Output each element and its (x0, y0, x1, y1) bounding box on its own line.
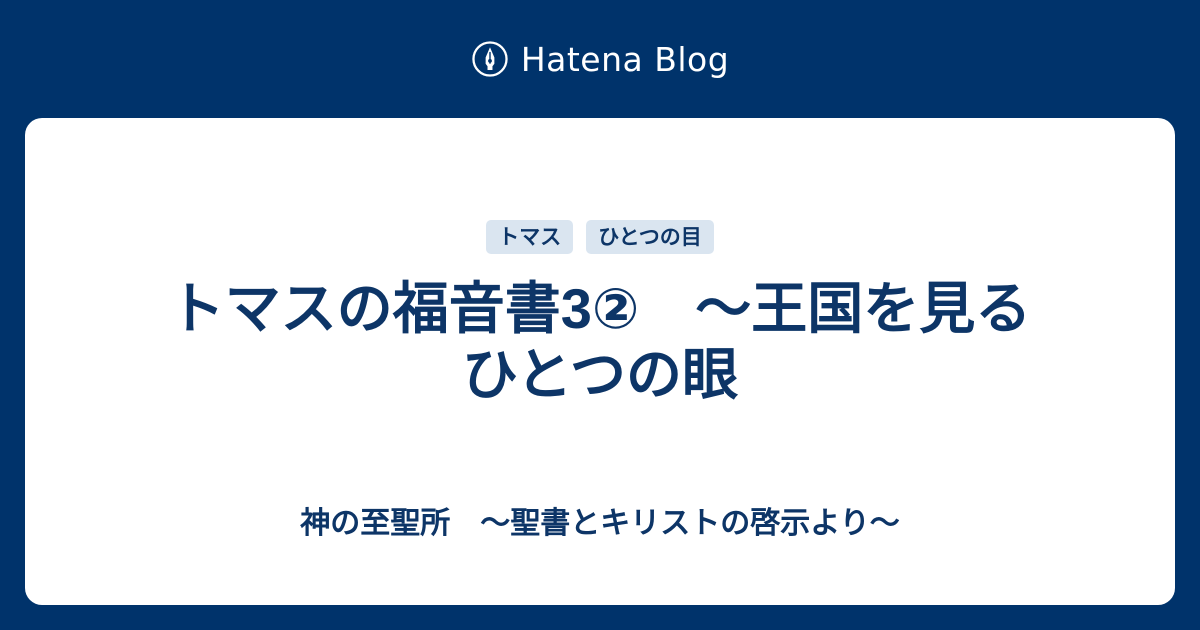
ogp-card-root: Hatena Blog トマス ひとつの目 トマスの福音書3② 〜王国を見るひと… (0, 0, 1200, 630)
entry-title[interactable]: トマスの福音書3② 〜王国を見るひとつの眼 (95, 276, 1105, 407)
entry-card: トマス ひとつの目 トマスの福音書3② 〜王国を見るひとつの眼 神の至聖所 〜聖… (25, 118, 1175, 605)
brand-header: Hatena Blog (0, 0, 1200, 118)
tag-chip-thomas[interactable]: トマス (486, 220, 573, 254)
tag-list: トマス ひとつの目 (486, 220, 714, 254)
blog-subtitle: 神の至聖所 〜聖書とキリストの啓示より〜 (25, 506, 1175, 542)
tag-chip-hitotsunome[interactable]: ひとつの目 (586, 220, 714, 254)
brand-name: Hatena Blog (521, 43, 729, 76)
hatena-pen-nib-icon (471, 40, 509, 78)
